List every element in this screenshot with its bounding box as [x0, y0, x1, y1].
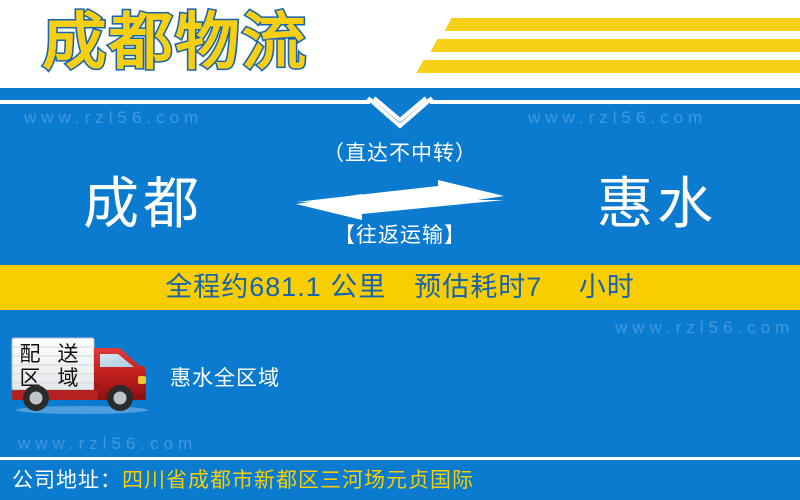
direct-shipping-note: （直达不中转） [250, 140, 550, 168]
address-value: 四川省成都市新都区三河场元贞国际 [122, 469, 474, 492]
banner-header: 成都物流 [0, 0, 800, 88]
decorative-stripe-3 [417, 60, 800, 73]
trip-info-band: 全程约681.1 公里 预估耗时7 小时 [0, 265, 800, 310]
company-address-bar: 公司地址：四川省成都市新都区三河场元贞国际 [0, 457, 800, 500]
origin-city-label: 成都 [18, 168, 268, 240]
coverage-area-label: 惠水全区域 [170, 365, 280, 393]
truck-label-char-2: 送 [58, 343, 79, 366]
roundtrip-shipping-note: 【往返运输】 [250, 222, 550, 250]
trip-info-text: 全程约681.1 公里 预估耗时7 小时 [0, 265, 800, 310]
divider-line-left [0, 100, 370, 104]
logistics-route-banner: 成都物流 www.rzl56.com www.rzl56.com www.rzl… [0, 0, 800, 500]
destination-city-label: 惠水 [532, 168, 782, 240]
truck-label-char-1: 配 [20, 343, 41, 366]
bidirectional-arrow-icon [288, 180, 512, 220]
delivery-truck-icon: 配 送 区 域 [8, 332, 156, 414]
address-label: 公司地址： [12, 469, 122, 492]
divider-line-right [430, 100, 800, 104]
truck-label-char-4: 域 [58, 367, 79, 390]
decorative-stripe-2 [431, 39, 800, 52]
company-address: 公司地址：四川省成都市新都区三河场元贞国际 [12, 460, 474, 500]
decorative-stripe-1 [445, 18, 800, 31]
chevron-down-icon [366, 96, 434, 132]
brand-title: 成都物流 [42, 4, 308, 82]
